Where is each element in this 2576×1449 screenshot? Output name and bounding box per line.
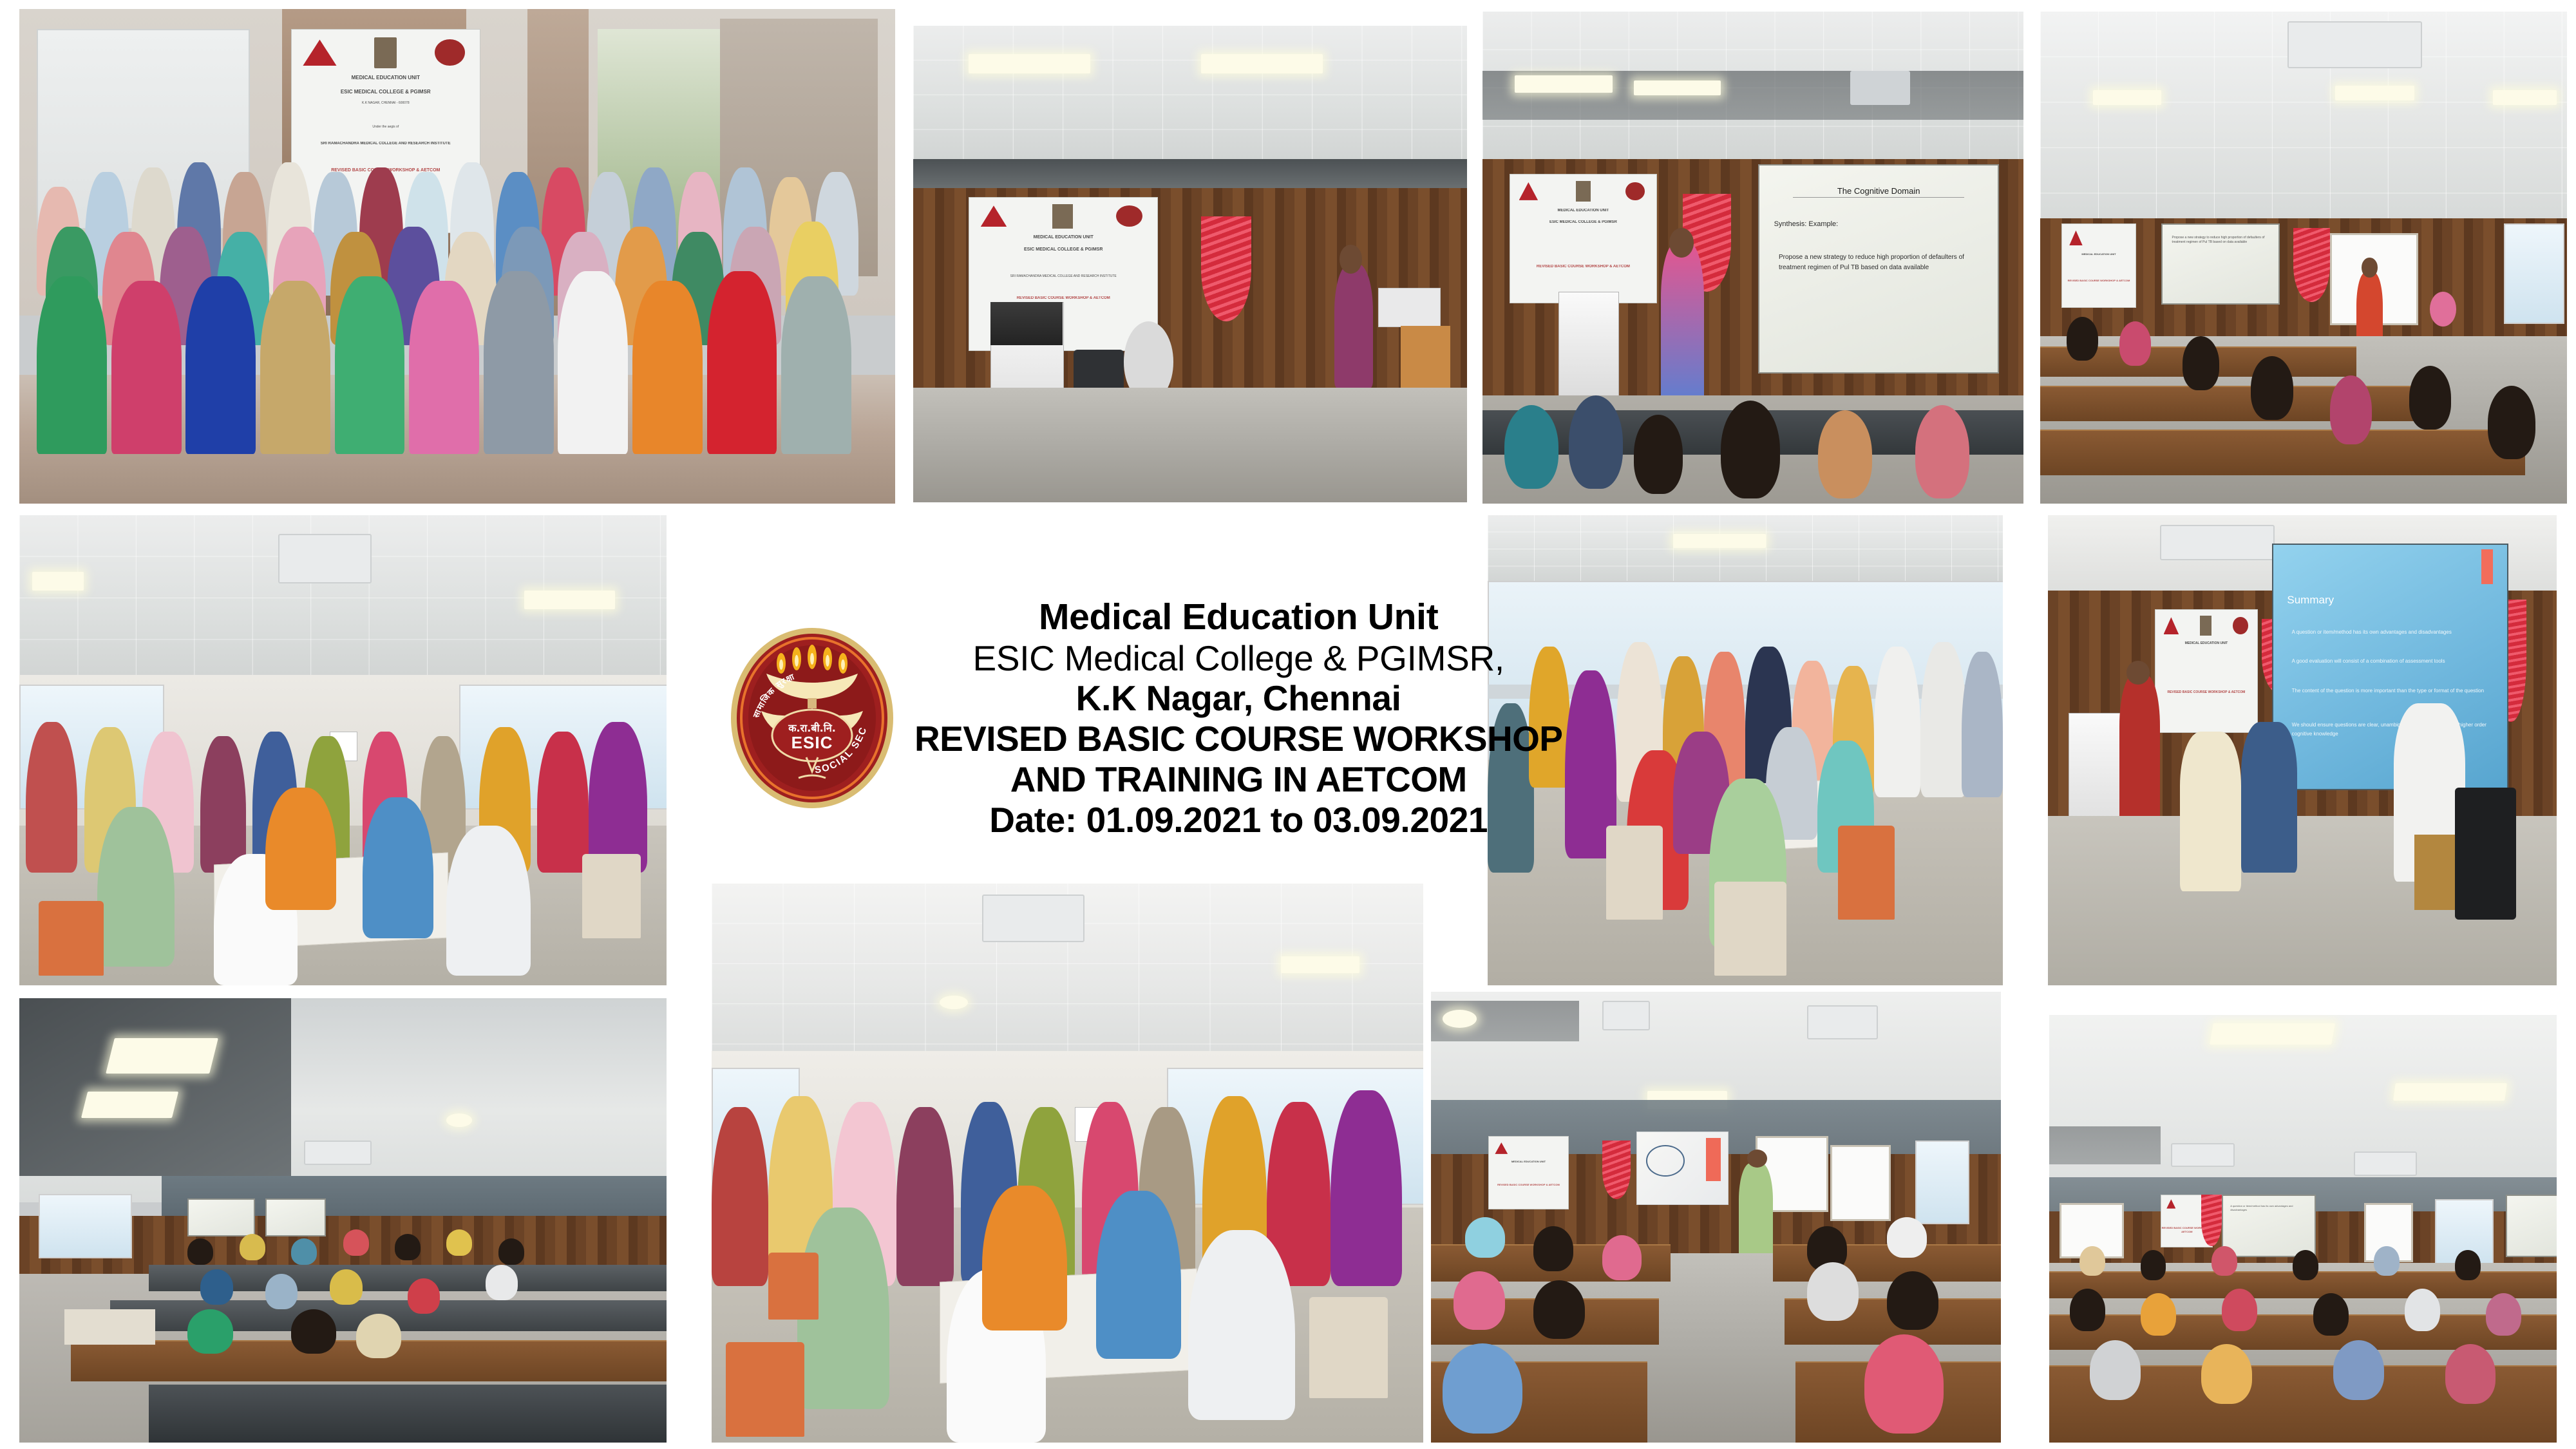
slide-circle-graphic [1646,1145,1685,1177]
photo-group-around-flipchart [712,884,1423,1443]
flower-vase [2430,292,2456,326]
plastic-chair-3 [1714,882,1786,976]
banner-line-1: MEDICAL EDUCATION UNIT [1510,208,1656,214]
front-table [64,1309,155,1345]
title-medical-education-unit: Medical Education Unit [1039,596,1438,638]
ceiling-light [1515,75,1612,93]
banner-line-1: MEDICAL EDUCATION UNIT [969,234,1157,241]
plastic-chair [39,901,104,976]
scene: REVISED BASIC COURSE WORKSHOP & AETCOM A… [2049,1015,2557,1443]
desk-row-2 [2040,386,2441,421]
ceiling-beam [913,159,1467,187]
photo-group-photo: MEDICAL EDUCATION UNIT ESIC MEDICAL COLL… [19,9,895,504]
centre-text-block: Medical Education Unit ESIC Medical Coll… [914,596,1562,840]
speaker-head [1340,245,1361,273]
slide-accent-bar [1706,1138,1721,1181]
scene [19,998,667,1443]
banner-line-1: MEDICAL EDUCATION UNIT [1489,1160,1569,1164]
ceiling-light-2 [2335,86,2414,100]
title-event-line-2: AND TRAINING IN AETCOM [1010,759,1467,800]
slide-title: The Cognitive Domain [1793,186,1964,198]
photo-cognitive-domain-session: MEDICAL EDUCATION UNIT ESIC MEDICAL COLL… [1482,12,2023,504]
banner-line-7: REVISED BASIC COURSE WORKSHOP & AETCOM [2155,690,2257,696]
photo-small-group-discussion-right [1488,515,2003,985]
ceiling-light-3 [2493,90,2556,105]
floor [913,388,1467,502]
window [1915,1141,1969,1224]
banner-line-2: ESIC MEDICAL COLLEGE & PGIMSR [969,247,1157,254]
centre-title-card: क.रा.बी.नि. ESIC SOCIAL SECURITY सामाजिक… [728,567,1488,869]
seated-panelist-1 [2180,732,2241,891]
ceiling-light-2 [2393,1083,2507,1101]
photo-podium-auditorium: MEDICAL EDUCATION UNIT ESIC MEDICAL COLL… [913,26,1467,502]
photo-summary-session: MEDICAL EDUCATION UNIT REVISED BASIC COU… [2048,515,2557,985]
floral-garland [2293,228,2330,302]
window [2504,223,2564,325]
laptop [1378,288,1441,327]
ceiling-ac-vent [982,895,1084,942]
photo-auditorium-wide-left [19,998,667,1443]
plastic-chair-2 [1309,1297,1388,1397]
projection-screen-2 [265,1198,326,1236]
scene: MEDICAL EDUCATION UNIT REVISED BASIC COU… [2048,515,2557,985]
lectern-top [990,302,1063,345]
lectern [1558,292,1619,411]
ceiling-light [2093,90,2161,105]
red-triangle-emblem [2069,231,2083,245]
slide-line-2: A good evaluation will consist of a comb… [2292,657,2488,666]
title-event-line-1: REVISED BASIC COURSE WORKSHOP [914,719,1562,759]
projection-screen-1 [187,1198,255,1236]
ceiling-ac-vent-2 [1807,1005,1878,1039]
srmc-emblem [1625,182,1644,200]
plastic-chair-2 [582,854,640,938]
red-triangle-emblem [1495,1142,1508,1154]
scene: MEDICAL EDUCATION UNIT ESIC MEDICAL COLL… [913,26,1467,502]
projection-screen: Propose a new strategy to reduce high pr… [2161,223,2280,305]
banner-line-1: MEDICAL EDUCATION UNIT [292,74,480,82]
presenter-person [1661,243,1704,405]
ceiling-ac-vent [304,1141,372,1166]
red-triangle-emblem [2164,617,2179,634]
banner-line-3: K.K NAGAR, CHENNAI - 600078 [292,101,480,106]
ceiling-ac-vent-1 [2171,1143,2235,1167]
slide-line-1: A question or item/method has its own ad… [2292,628,2488,637]
ceiling-light-2 [1634,80,1720,95]
red-triangle-emblem [1519,182,1538,200]
srmc-emblem [435,39,465,66]
desk-row-3 [2040,430,2525,475]
scene [19,515,667,985]
national-emblem [1576,181,1591,202]
title-institution: ESIC Medical College & PGIMSR, [972,638,1504,679]
photo-small-group-discussion-left [19,515,667,985]
event-banner: MEDICAL EDUCATION UNIT REVISED BASIC COU… [1488,1136,1569,1209]
ceiling-ac-vent-2 [2354,1151,2418,1175]
plastic-chair-2 [1838,826,1895,920]
projection-screen: A question or item/method has its own ad… [2222,1195,2316,1257]
projection-screen [1636,1132,1729,1205]
srmc-emblem [1116,205,1142,227]
ceiling-ac-vent [2160,525,2275,560]
scene: MEDICAL EDUCATION UNIT REVISED BASIC COU… [1431,992,2001,1443]
ceiling-spot [940,996,968,1010]
banner-line-2: ESIC MEDICAL COLLEGE & PGIMSR [292,88,480,96]
ceiling-light [969,54,1090,73]
ceiling-light [2210,1023,2335,1045]
projection-screen: The Cognitive Domain Synthesis: Example:… [1758,164,1999,374]
ceiling-ac-vent [278,534,372,583]
esic-seal-logo: क.रा.बी.नि. ESIC SOCIAL SECURITY सामाजिक… [728,625,896,811]
national-emblem [2200,616,2211,635]
window [39,1194,132,1259]
ceiling-recess [2049,1126,2161,1165]
banner-line-4: Under the aegis of [292,125,480,130]
photo-facilitator-walking-aisle: MEDICAL EDUCATION UNIT REVISED BASIC COU… [1431,992,2001,1443]
scene: MEDICAL EDUCATION UNIT ESIC MEDICAL COLL… [19,9,895,504]
banner-line-7: REVISED BASIC COURSE WORKSHOP & AETCOM [1510,264,1656,270]
banner-line-1: MEDICAL EDUCATION UNIT [2155,641,2257,647]
title-location: K.K Nagar, Chennai [1076,678,1401,719]
banner-line-7: REVISED BASIC COURSE WORKSHOP & AETCOM [969,296,1157,301]
projection-screen-2 [2506,1195,2557,1257]
banner-line-7: REVISED BASIC COURSE WORKSHOP & AETCOM [1489,1183,1569,1187]
ceiling-light-2 [1201,54,1323,73]
slide-accent-bar [2481,549,2493,583]
event-banner: MEDICAL EDUCATION UNIT ESIC MEDICAL COLL… [1510,174,1657,303]
national-emblem [1052,204,1073,229]
ceiling [913,26,1467,159]
plastic-chair-1 [1606,826,1663,920]
scene [712,884,1423,1443]
floral-garland [1602,1141,1631,1199]
seated-panelist-2 [2241,722,2297,873]
ceiling [1488,515,2003,581]
ceiling-spot [1443,1010,1477,1028]
red-triangle-emblem [2166,1199,2175,1208]
standing-speaker [2119,675,2160,826]
ceiling-light [106,1038,218,1074]
banner-line-2: ESIC MEDICAL COLLEGE & PGIMSR [1510,220,1656,225]
scene [1488,515,2003,985]
srmc-emblem [2233,617,2248,634]
ceiling-light [32,572,84,591]
banner-line-7: REVISED BASIC COURSE WORKSHOP & AETCOM [2062,279,2136,283]
plastic-chair-3 [768,1253,818,1320]
ceiling-ac-vent-1 [1602,1001,1651,1030]
slide-body: Propose a new strategy to reduce high pr… [2172,236,2269,245]
slide-body: A question or item/method has its own ad… [2230,1204,2307,1212]
whiteboard-2 [1830,1145,1891,1221]
presenter-head [2362,258,2378,278]
ceiling-light [1673,534,1766,548]
ceiling-light [1281,956,1359,973]
floral-garland [1201,216,1251,321]
ceiling-ac-unit [2287,21,2422,68]
slide-line-1: Synthesis: Example: [1774,219,1984,231]
banner-line-5: SRI RAMACHANDRA MEDICAL COLLEGE AND RESE… [292,141,480,147]
projector [1850,71,1909,105]
ceiling-light-2 [524,591,615,609]
photo-lecture-hall-presenter: MEDICAL EDUCATION UNIT REVISED BASIC COU… [2040,12,2567,504]
red-triangle-emblem [303,39,337,66]
presenter-head [1669,228,1694,258]
ceiling-light-2 [80,1092,178,1118]
scene: MEDICAL EDUCATION UNIT REVISED BASIC COU… [2040,12,2567,504]
banner-line-1: MEDICAL EDUCATION UNIT [2062,252,2136,256]
office-chair [2455,788,2516,919]
projection-screen: Summary A question or item/method has it… [2272,544,2508,791]
slide-title: Summary [2287,594,2334,607]
standing-speaker-head [2126,661,2150,685]
title-date-line: Date: 01.09.2021 to 03.09.2021 [989,800,1488,840]
photo-collage: MEDICAL EDUCATION UNIT ESIC MEDICAL COLL… [0,0,2576,1449]
esic-acronym: ESIC [791,733,833,752]
facilitator-head [1747,1150,1767,1168]
photo-auditorium-wide-right: REVISED BASIC COURSE WORKSHOP & AETCOM A… [2049,1015,2557,1443]
ceiling-dark-panel [19,998,291,1176]
slide-line-2: Propose a new strategy to reduce high pr… [1779,252,1984,273]
desk-row-4 [149,1385,667,1443]
slide-line-3: The content of the question is more impo… [2292,687,2488,696]
scene: MEDICAL EDUCATION UNIT ESIC MEDICAL COLL… [1482,12,2023,504]
national-emblem [374,37,397,68]
floral-garland [2201,1195,2222,1246]
event-banner: MEDICAL EDUCATION UNIT REVISED BASIC COU… [2155,609,2258,733]
speaker-person [1334,264,1373,388]
event-banner: MEDICAL EDUCATION UNIT REVISED BASIC COU… [2061,223,2137,308]
banner-line-5: SRI RAMACHANDRA MEDICAL COLLEGE AND RESE… [969,274,1157,279]
red-triangle-emblem [981,205,1007,227]
plastic-chair-1 [726,1342,804,1437]
